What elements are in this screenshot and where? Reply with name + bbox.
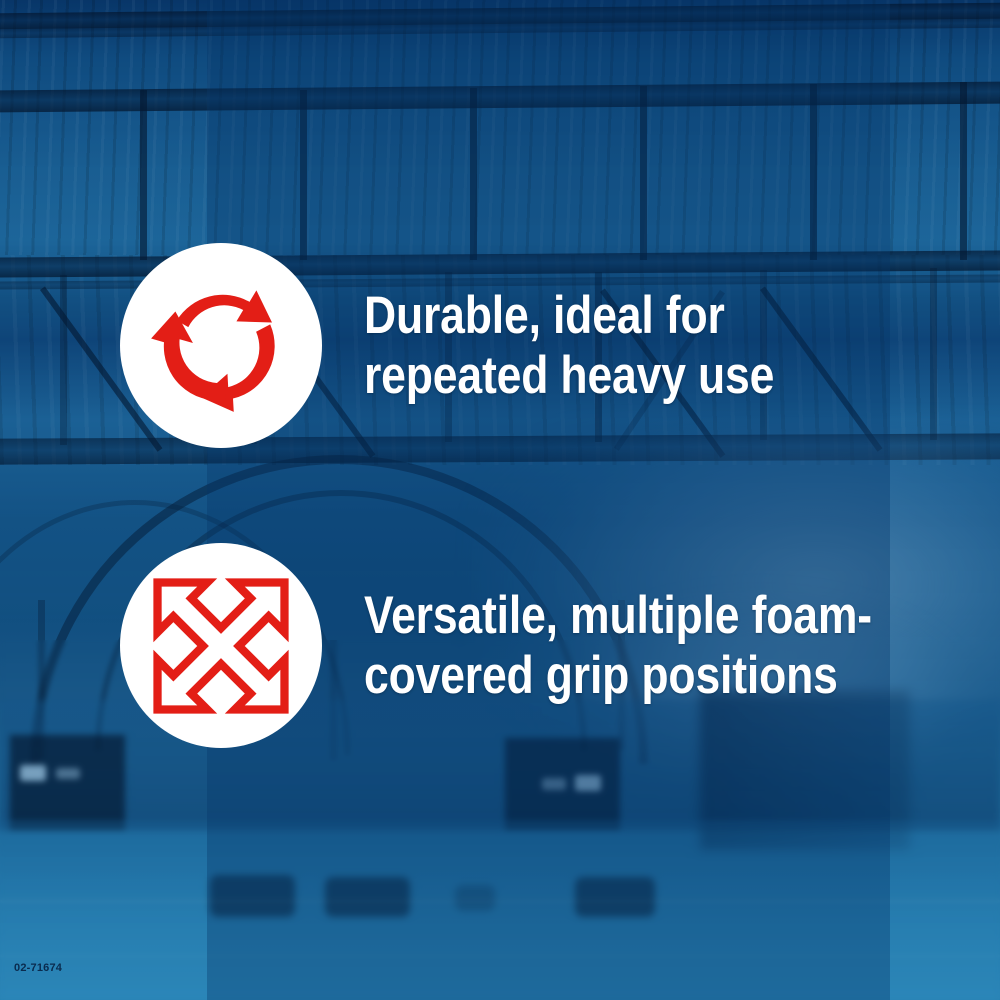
- center-darker-band: [207, 0, 890, 1000]
- feature-text: Durable, ideal for repeated heavy use: [364, 286, 774, 405]
- feature-text-wrap: Durable, ideal for repeated heavy use: [364, 286, 852, 405]
- feature-icon-badge: [120, 243, 322, 448]
- feature-row: Versatile, multiple foam- covered grip p…: [120, 543, 969, 748]
- expand-four-arrows-icon: [152, 577, 290, 715]
- marketing-feature-panel: Durable, ideal for repeated heavy use Ve…: [0, 0, 1000, 1000]
- product-code-label: 02-71674: [14, 962, 62, 974]
- feature-icon-badge: [120, 543, 322, 748]
- feature-row: Durable, ideal for repeated heavy use: [120, 243, 852, 448]
- feature-text-wrap: Versatile, multiple foam- covered grip p…: [364, 586, 969, 705]
- feature-text: Versatile, multiple foam- covered grip p…: [364, 586, 872, 705]
- cycle-arrows-icon: [146, 271, 296, 421]
